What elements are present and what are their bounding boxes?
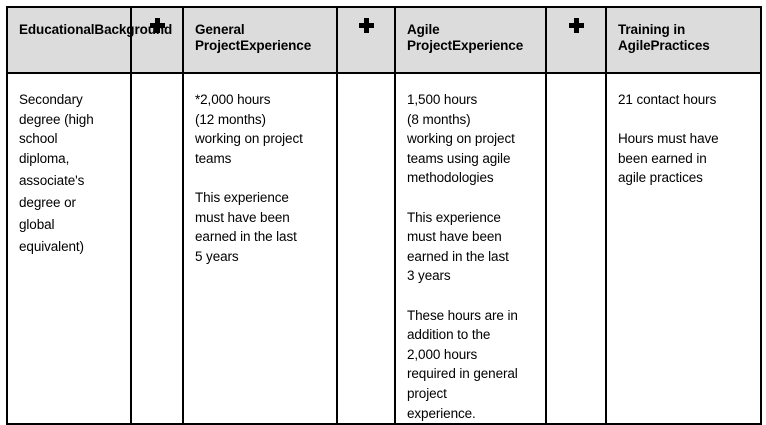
paragraph: *2,000 hours(12 months)working on projec… <box>195 90 330 168</box>
text-line: Experience <box>240 38 311 53</box>
text-line: experience. <box>407 404 539 424</box>
operator-cell-plus-1 <box>131 7 183 73</box>
text-line: degree (high <box>19 110 124 130</box>
header-cell-training-in-agile-practices: Training in AgilePractices <box>606 7 761 73</box>
header-cell-educational-background: EducationalBackground <box>7 7 131 73</box>
text-line: Agile Project <box>407 22 452 53</box>
text-line: Secondary <box>19 90 124 110</box>
header-title-general-project-experience: General ProjectExperience <box>184 8 336 54</box>
body-cell-educational-background: Secondarydegree (highschooldiploma,assoc… <box>7 73 131 424</box>
text-line: General Project <box>195 22 245 53</box>
header-title-educational-background: EducationalBackground <box>8 8 130 38</box>
text-line: This experience <box>407 208 539 228</box>
text-line: These hours are in <box>407 306 539 326</box>
text-line: (12 months) <box>195 110 330 130</box>
text-line: 5 years <box>195 247 330 267</box>
text-line: working on project <box>407 129 539 149</box>
text-line: diploma, <box>19 149 124 169</box>
text-line: required in general <box>407 364 539 384</box>
paragraph: 1,500 hours(8 months)working on projectt… <box>407 90 539 188</box>
text-line: Experience <box>452 38 523 53</box>
cell-text-educational-background: Secondarydegree (highschooldiploma,assoc… <box>8 74 130 257</box>
body-cell-general-project-experience: *2,000 hours(12 months)working on projec… <box>183 73 337 424</box>
cell-text-agile-project-experience: 1,500 hours(8 months)working on projectt… <box>396 74 545 423</box>
paragraph: These hours are inaddition to the2,000 h… <box>407 306 539 424</box>
cell-text-general-project-experience: *2,000 hours(12 months)working on projec… <box>184 74 336 266</box>
text-line: equivalent) <box>19 237 124 257</box>
text-line: Educational <box>19 22 94 37</box>
text-line: *2,000 hours <box>195 90 330 110</box>
text-line: methodologies <box>407 168 539 188</box>
header-title-agile-project-experience: Agile ProjectExperience <box>396 8 545 54</box>
text-line: Hours must have <box>618 129 754 149</box>
text-line: school <box>19 129 124 149</box>
text-line: 1,500 hours <box>407 90 539 110</box>
paragraph: This experiencemust have beenearned in t… <box>407 208 539 286</box>
operator-cell-plus-2 <box>337 7 395 73</box>
text-line: 21 contact hours <box>618 90 754 110</box>
paragraph: This experiencemust have beenearned in t… <box>195 188 330 266</box>
paragraph: Hours must havebeen earned inagile pract… <box>618 129 754 188</box>
text-line: associate's <box>19 171 124 191</box>
text-line: must have been <box>407 227 539 247</box>
text-line: teams <box>195 149 330 169</box>
table-header-row: EducationalBackground General ProjectExp… <box>7 7 761 73</box>
text-line: (8 months) <box>407 110 539 130</box>
text-line: must have been <box>195 208 330 228</box>
operator-cell-plus-3 <box>546 7 606 73</box>
text-line: This experience <box>195 188 330 208</box>
plus-icon <box>569 18 584 33</box>
text-line: earned in the last <box>195 227 330 247</box>
header-cell-agile-project-experience: Agile ProjectExperience <box>395 7 546 73</box>
cell-text-training-in-agile-practices: 21 contact hoursHours must havebeen earn… <box>607 74 760 188</box>
body-cell-agile-project-experience: 1,500 hours(8 months)working on projectt… <box>395 73 546 424</box>
text-line: working on project <box>195 129 330 149</box>
body-spacer-cell-3 <box>546 73 606 424</box>
text-line: teams using agile <box>407 149 539 169</box>
plus-icon <box>359 18 374 33</box>
body-spacer-cell-1 <box>131 73 183 424</box>
text-line: 2,000 hours <box>407 345 539 365</box>
header-cell-general-project-experience: General ProjectExperience <box>183 7 337 73</box>
text-line: global <box>19 215 124 235</box>
text-line: 3 years <box>407 266 539 286</box>
text-line: addition to the <box>407 325 539 345</box>
paragraph: 21 contact hours <box>618 90 754 110</box>
paragraph: Secondarydegree (highschooldiploma,assoc… <box>19 90 124 257</box>
text-line: project <box>407 384 539 404</box>
header-title-training-in-agile-practices: Training in AgilePractices <box>607 8 760 54</box>
table-body-row: Secondarydegree (highschooldiploma,assoc… <box>7 73 761 424</box>
text-line: Practices <box>651 38 710 53</box>
plus-icon <box>150 18 165 33</box>
body-cell-training-in-agile-practices: 21 contact hoursHours must havebeen earn… <box>606 73 761 424</box>
body-spacer-cell-2 <box>337 73 395 424</box>
credential-requirements-table: EducationalBackground General ProjectExp… <box>6 6 762 425</box>
text-line: been earned in <box>618 149 754 169</box>
text-line: earned in the last <box>407 247 539 267</box>
text-line: agile practices <box>618 168 754 188</box>
text-line: degree or <box>19 193 124 213</box>
